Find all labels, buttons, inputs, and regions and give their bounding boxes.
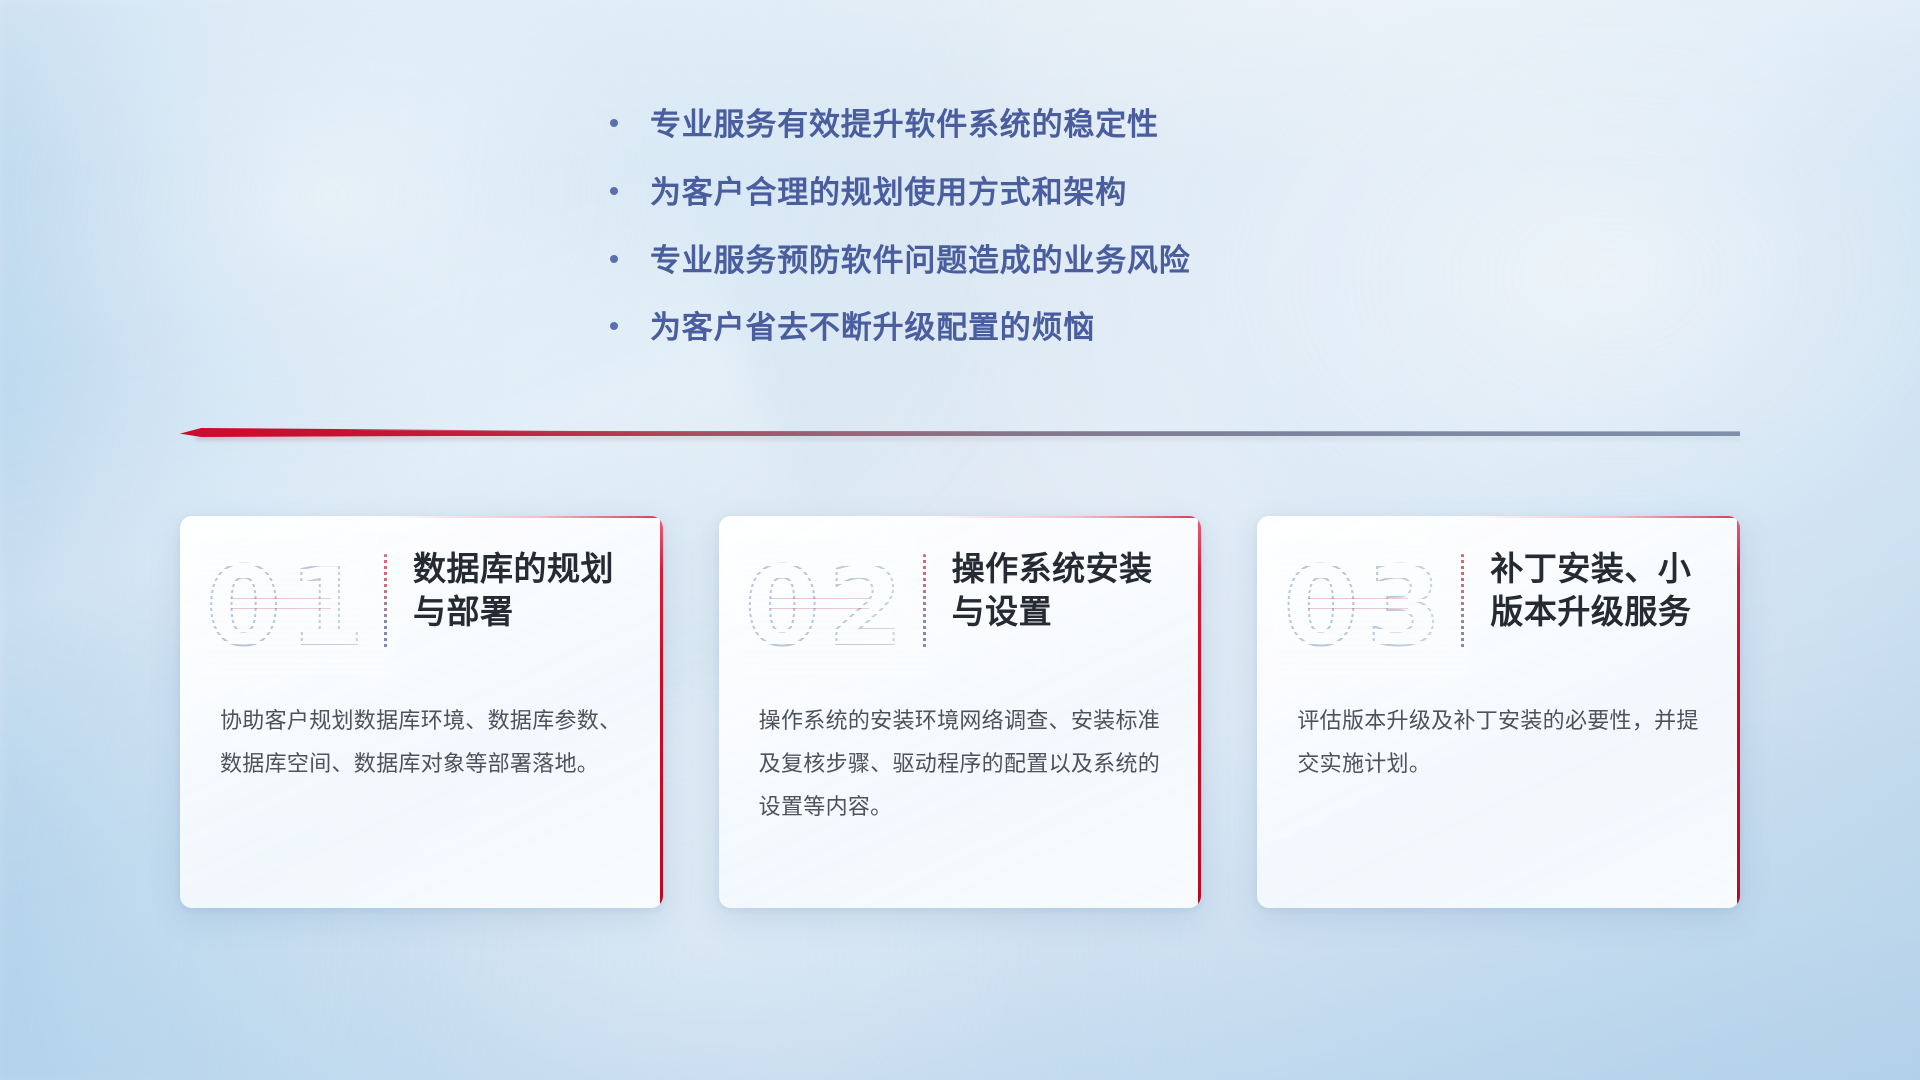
card-body-text: 评估版本升级及补丁安装的必要性，并提交实施计划。 [1257,682,1740,786]
bullet-text: 专业服务有效提升软件系统的稳定性 [650,106,1159,144]
card-title: 数据库的规划与部署 [413,542,633,634]
list-item: 专业服务有效提升软件系统的稳定性 [610,106,1310,144]
benefit-bullet-list: 专业服务有效提升软件系统的稳定性 为客户合理的规划使用方式和架构 专业服务预防软… [0,106,1920,377]
card-header: 01 数据库的规划与部署 [180,516,663,682]
card-body-text: 协助客户规划数据库环境、数据库参数、数据库空间、数据库对象等部署落地。 [180,682,663,786]
service-card[interactable]: 03 补丁安装、小版本升级服务 评估版本升级及补丁安装的必要性，并提交实施计划。 [1257,516,1740,908]
card-body-text: 操作系统的安装环境网络调查、安装标准及复核步骤、驱动程序的配置以及系统的设置等内… [719,682,1202,829]
bullet-text: 为客户合理的规划使用方式和架构 [650,174,1127,212]
list-item: 为客户省去不断升级配置的烦恼 [610,309,1310,347]
card-number-text: 03 [1283,554,1449,662]
bullet-text: 专业服务预防软件问题造成的业务风险 [650,242,1191,280]
card-number-text: 01 [206,554,372,662]
bullet-dot-icon [610,187,618,195]
card-header: 02 操作系统安装与设置 [719,516,1202,682]
service-card[interactable]: 02 操作系统安装与设置 操作系统的安装环境网络调查、安装标准及复核步骤、驱动程… [719,516,1202,908]
card-number-watermark: 03 [1283,548,1461,668]
card-number-watermark: 02 [745,548,923,668]
card-title-accent-bar [923,554,926,650]
card-title: 补丁安装、小版本升级服务 [1490,542,1710,634]
divider-shadow [196,436,1740,440]
list-item: 为客户合理的规划使用方式和架构 [610,174,1310,212]
bullet-dot-icon [610,119,618,127]
card-title-accent-bar [384,554,387,650]
bullet-dot-icon [610,322,618,330]
card-header: 03 补丁安装、小版本升级服务 [1257,516,1740,682]
list-item: 专业服务预防软件问题造成的业务风险 [610,242,1310,280]
service-card-list: 01 数据库的规划与部署 协助客户规划数据库环境、数据库参数、数据库空间、数据库… [180,516,1740,908]
bullet-text: 为客户省去不断升级配置的烦恼 [650,309,1095,347]
service-card[interactable]: 01 数据库的规划与部署 协助客户规划数据库环境、数据库参数、数据库空间、数据库… [180,516,663,908]
card-title-accent-bar [1461,554,1464,650]
bullet-dot-icon [610,255,618,263]
card-number-watermark: 01 [206,548,384,668]
card-title: 操作系统安装与设置 [952,542,1172,634]
section-divider [180,424,1740,442]
card-number-text: 02 [745,554,911,662]
